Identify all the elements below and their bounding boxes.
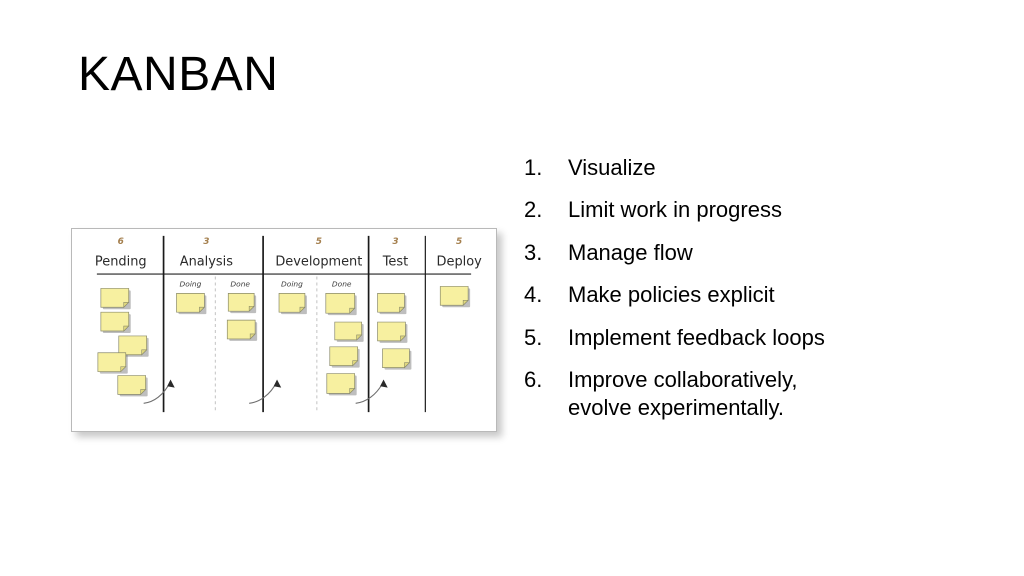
- sticky-note: [326, 293, 357, 315]
- list-item-number: 4.: [524, 281, 568, 309]
- card-group-development-doing: [279, 293, 307, 314]
- sticky-note: [335, 322, 364, 342]
- wip-limit-pending: 6: [118, 237, 124, 247]
- list-item-number: 5.: [524, 324, 568, 352]
- sublabel-development-doing: Doing: [281, 279, 303, 288]
- kanban-board-svg: 6 3 5 3 5 Pending Analysis Development T…: [72, 229, 496, 431]
- sticky-note: [378, 293, 407, 314]
- card-group-test: [378, 293, 412, 369]
- card-group-analysis-done: [227, 293, 257, 341]
- column-header-deploy: Deploy: [437, 255, 483, 270]
- list-item: 6. Improve collaboratively, evolve exper…: [524, 366, 944, 423]
- card-group-deploy: [440, 286, 470, 307]
- column-header-pending: Pending: [95, 255, 147, 270]
- sticky-note: [101, 288, 131, 309]
- list-item: 1. Visualize: [524, 154, 944, 182]
- sticky-note: [177, 293, 207, 314]
- flow-arrow-development-to-test: [356, 380, 388, 404]
- column-header-analysis: Analysis: [180, 255, 234, 270]
- sticky-note: [98, 353, 128, 374]
- sticky-note: [101, 312, 131, 333]
- sticky-note: [330, 347, 360, 368]
- flow-arrow-analysis-to-development: [249, 380, 281, 404]
- list-item-label: Manage flow: [568, 239, 944, 267]
- list-item-label: Make policies explicit: [568, 281, 944, 309]
- sticky-note: [227, 320, 257, 341]
- wip-limit-deploy: 5: [456, 237, 462, 247]
- list-item-label: Improve collaboratively, evolve experime…: [568, 366, 944, 423]
- slide-canvas: KANBAN 1. Visualize 2. Limit work in pro…: [0, 0, 1024, 576]
- sublabel-analysis-done: Done: [230, 279, 250, 288]
- sticky-note: [440, 286, 470, 307]
- sticky-note: [378, 322, 408, 343]
- kanban-board-frame: 6 3 5 3 5 Pending Analysis Development T…: [71, 228, 497, 432]
- flow-arrow-pending-to-analysis: [144, 380, 175, 404]
- card-group-development-done: [326, 293, 364, 395]
- list-item-label: Limit work in progress: [568, 196, 944, 224]
- list-item-number: 6.: [524, 366, 568, 394]
- card-group-pending: [98, 288, 149, 396]
- kanban-board-image: 6 3 5 3 5 Pending Analysis Development T…: [71, 228, 497, 432]
- sublabel-development-done: Done: [332, 279, 352, 288]
- sticky-note: [228, 293, 256, 313]
- page-title: KANBAN: [78, 47, 278, 102]
- wip-limit-analysis: 3: [203, 237, 209, 247]
- sticky-note: [383, 349, 412, 370]
- list-item-number: 3.: [524, 239, 568, 267]
- list-item-label: Implement feedback loops: [568, 324, 944, 352]
- sticky-note: [279, 293, 307, 314]
- list-item-label: Visualize: [568, 154, 944, 182]
- list-item-number: 1.: [524, 154, 568, 182]
- list-item: 5. Implement feedback loops: [524, 324, 944, 352]
- list-item-number: 2.: [524, 196, 568, 224]
- list-item: 2. Limit work in progress: [524, 196, 944, 224]
- sublabel-analysis-doing: Doing: [180, 279, 202, 288]
- list-item: 3. Manage flow: [524, 239, 944, 267]
- column-header-development: Development: [275, 255, 362, 270]
- card-group-analysis-doing: [177, 293, 207, 314]
- wip-limit-test: 3: [392, 237, 398, 247]
- sticky-note: [118, 376, 148, 397]
- sticky-note: [327, 374, 357, 396]
- list-item: 4. Make policies explicit: [524, 281, 944, 309]
- column-header-test: Test: [382, 255, 408, 270]
- kanban-principles-list: 1. Visualize 2. Limit work in progress 3…: [524, 154, 944, 437]
- wip-limit-development: 5: [316, 237, 322, 247]
